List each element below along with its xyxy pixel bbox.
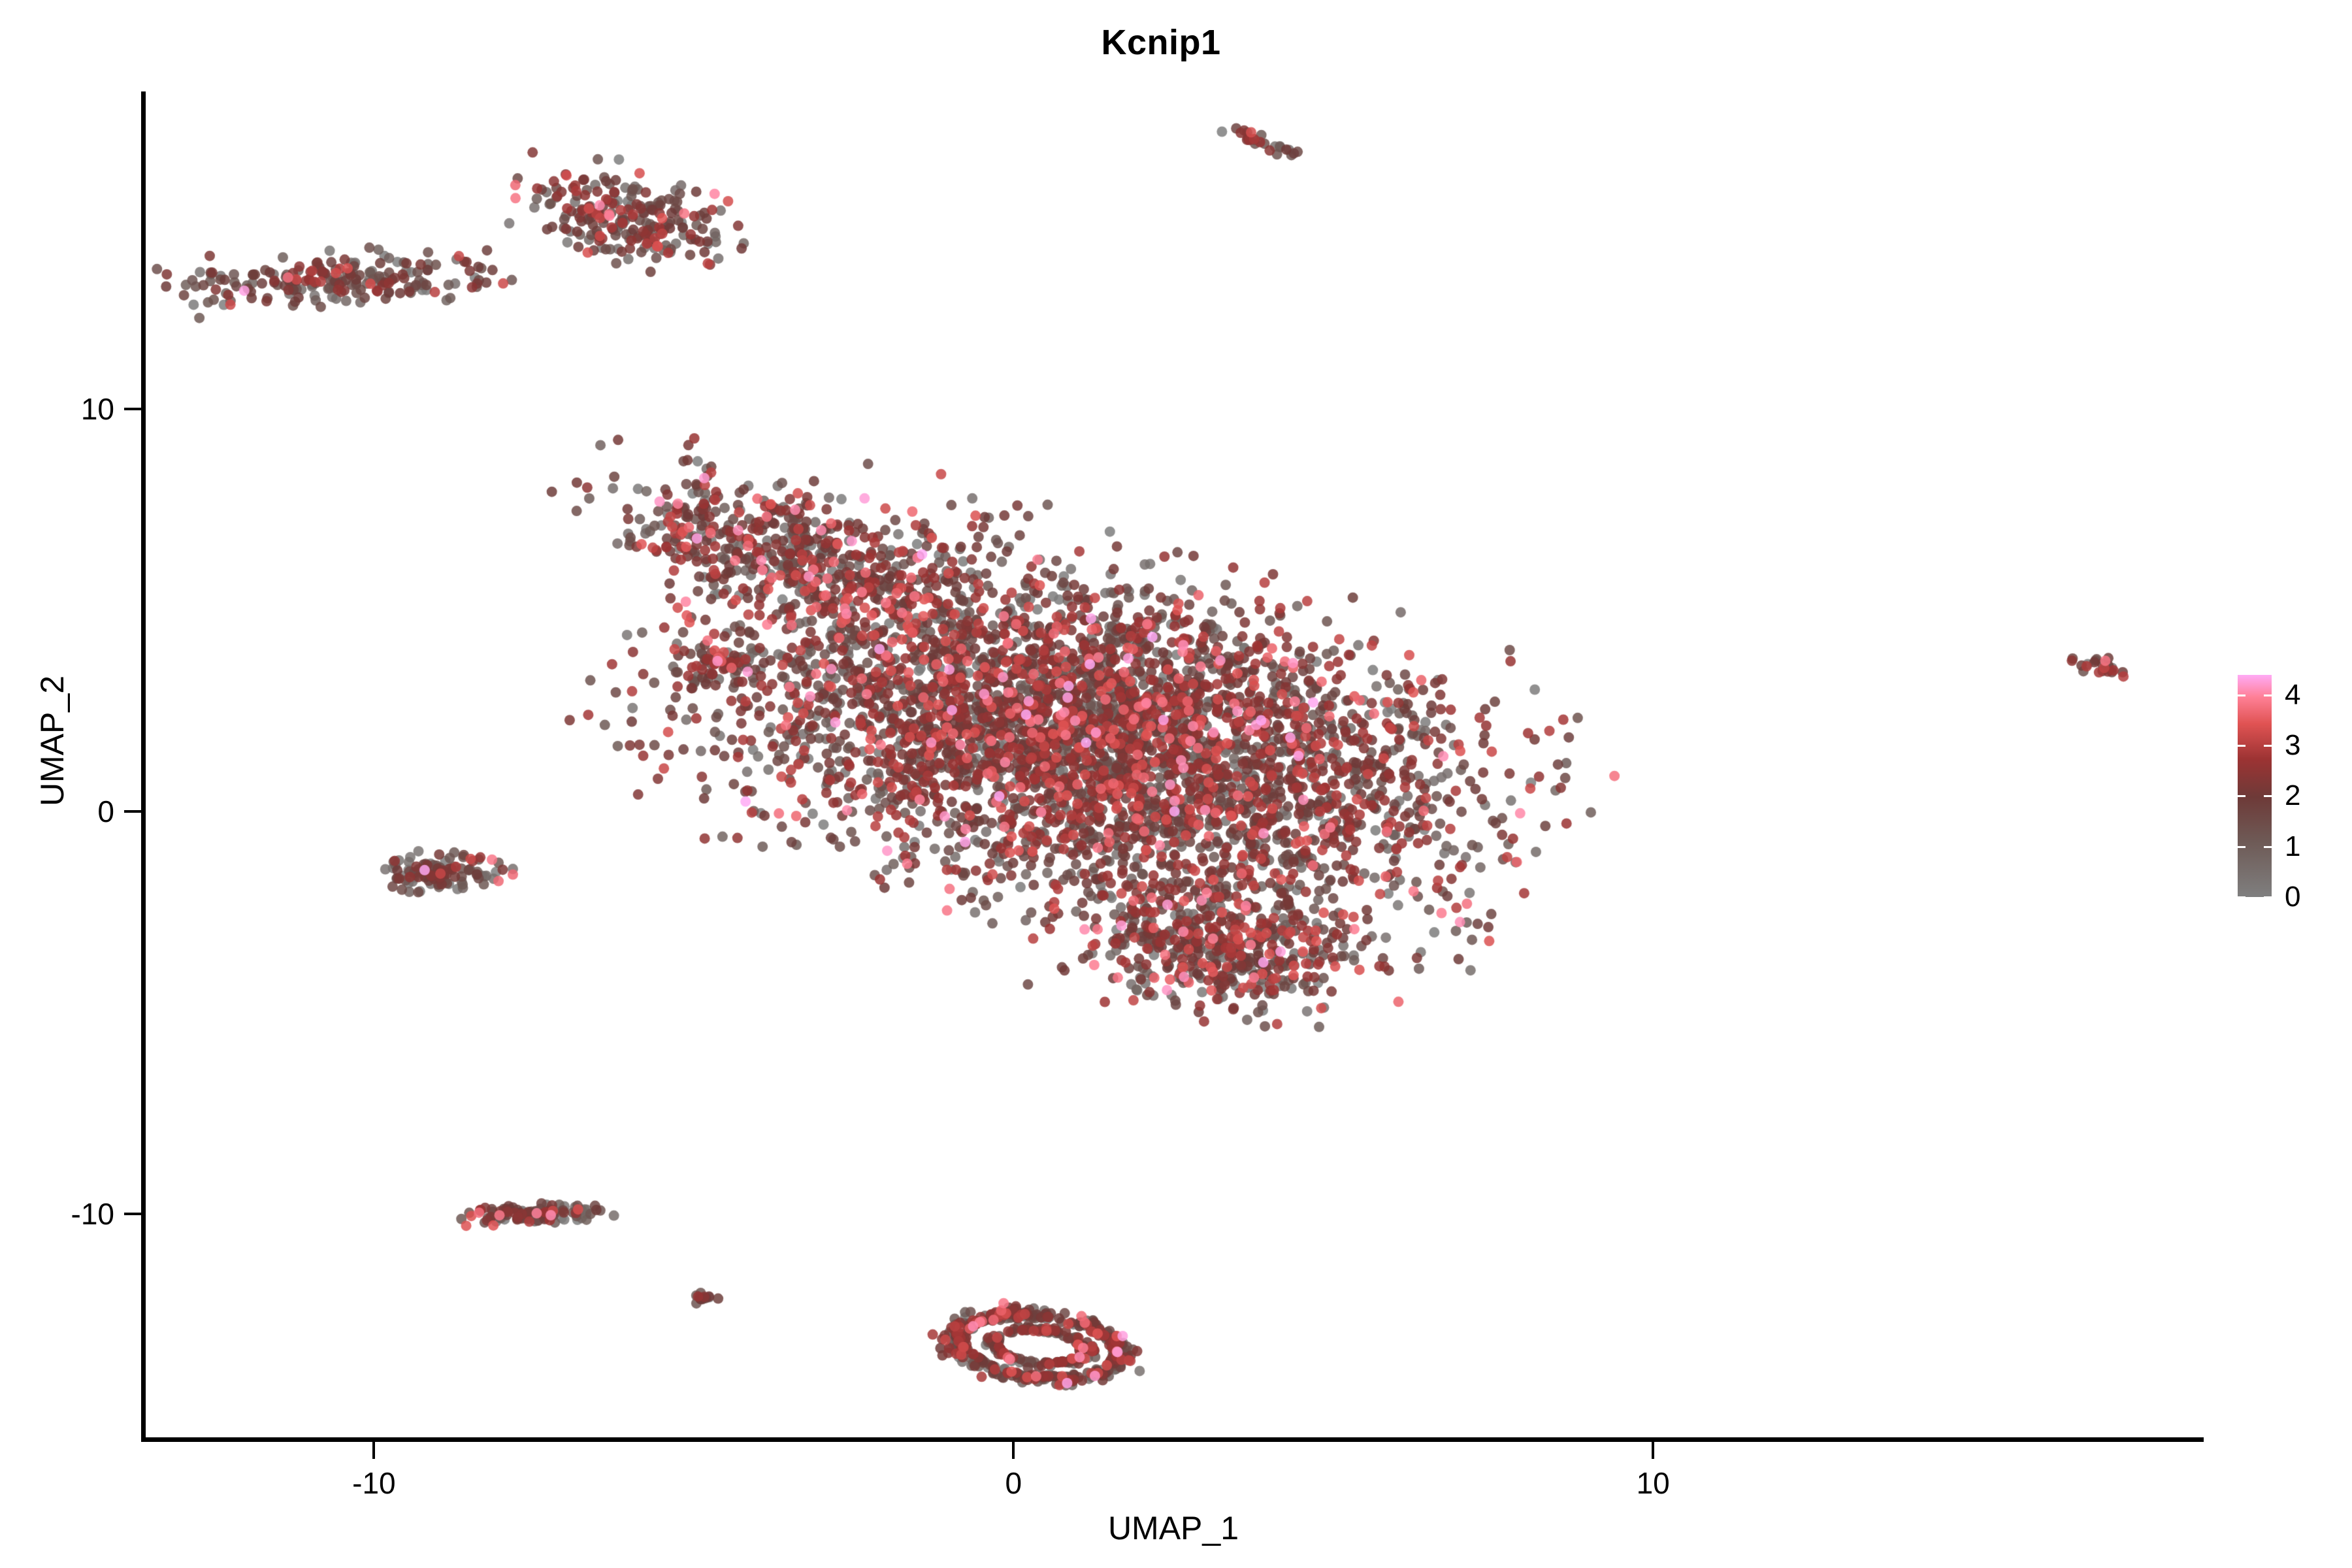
- x-tick-label: 0: [1005, 1465, 1022, 1501]
- x-tick-mark: [1652, 1442, 1654, 1459]
- umap-feature-plot: Kcnip1 -10010 -10010 UMAP_1 UMAP_2 01234: [0, 0, 2352, 1568]
- legend-tick-mark: [2264, 745, 2272, 747]
- y-tick-label: 0: [97, 794, 114, 829]
- x-axis-title: UMAP_1: [144, 1509, 2203, 1547]
- legend-label: 3: [2285, 729, 2300, 762]
- x-tick-mark: [372, 1442, 375, 1459]
- plot-panel: [144, 91, 2203, 1439]
- legend-tick-mark: [2264, 795, 2272, 797]
- page-title: Kcnip1: [0, 22, 2337, 63]
- legend-tick-mark: [2238, 745, 2246, 747]
- legend-label: 4: [2285, 679, 2300, 711]
- legend-label: 1: [2285, 830, 2300, 863]
- legend-tick-mark: [2238, 795, 2246, 797]
- y-axis-line: [141, 91, 146, 1442]
- legend-colorbar: [2238, 675, 2272, 897]
- scatter-canvas: [144, 91, 2203, 1439]
- legend-tick-mark: [2238, 896, 2246, 898]
- legend-tick-mark: [2238, 694, 2246, 696]
- legend-tick-mark: [2264, 846, 2272, 848]
- y-tick-label: 10: [81, 391, 114, 427]
- legend-label: 2: [2285, 779, 2300, 812]
- legend-label: 0: [2285, 881, 2300, 913]
- x-tick-mark: [1012, 1442, 1015, 1459]
- legend-tick-mark: [2264, 896, 2272, 898]
- y-tick-mark: [124, 1213, 141, 1215]
- color-legend: 01234: [2238, 675, 2336, 917]
- y-tick-label: -10: [71, 1196, 114, 1232]
- legend-tick-mark: [2238, 846, 2246, 848]
- x-tick-label: 10: [1637, 1465, 1670, 1501]
- legend-tick-mark: [2264, 694, 2272, 696]
- x-tick-label: -10: [352, 1465, 395, 1501]
- y-axis-title: UMAP_2: [33, 414, 71, 1068]
- x-axis-line: [141, 1437, 2204, 1442]
- y-tick-mark: [124, 408, 141, 410]
- y-tick-mark: [124, 810, 141, 813]
